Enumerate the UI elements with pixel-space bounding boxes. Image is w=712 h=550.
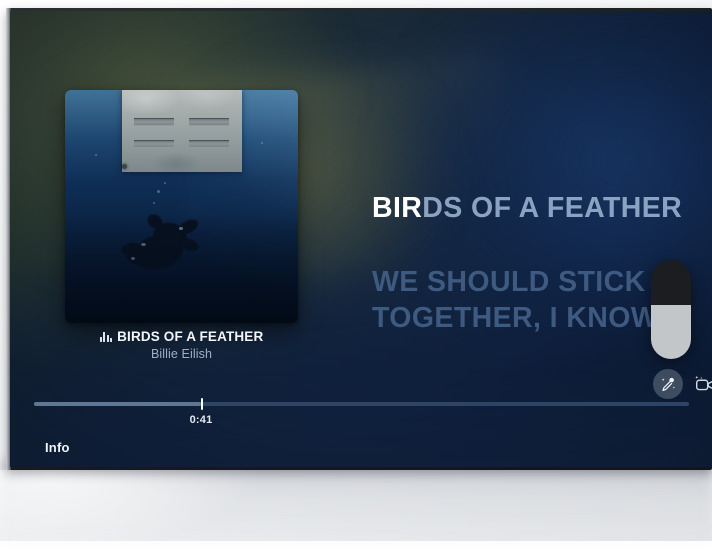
slab-texture [122,90,242,172]
music-player-screen: BIRDS OF A FEATHER Billie Eilish BIRDS O… [10,11,712,467]
slab-bolt [122,164,127,169]
device-shadow [0,460,712,550]
volume-slider[interactable] [651,260,691,359]
slab-slot [134,118,174,126]
playback-progress[interactable]: 0:41 [34,402,689,406]
slab-slot [189,140,229,148]
surface-highlight [0,470,260,550]
karaoke-sing-button[interactable] [653,369,683,399]
lyric-unsung-text: DS OF A FEATHER [422,192,682,224]
bubble [153,202,155,204]
bubble [164,182,166,184]
music-video-button[interactable] [692,371,712,397]
progress-elapsed [34,402,201,406]
progress-scrubber-handle[interactable] [201,398,203,410]
track-title: BIRDS OF A FEATHER [117,329,263,344]
scene: BIRDS OF A FEATHER Billie Eilish BIRDS O… [0,0,712,541]
video-camera-sparkle-icon [694,374,712,394]
playback-extras-row [653,369,712,399]
bubble [95,154,97,156]
bubble [157,190,160,193]
elapsed-time-label: 0:41 [190,414,213,426]
slab-slot [189,118,229,126]
equalizer-bars-icon [100,331,113,342]
album-artwork-image [65,90,298,323]
info-button[interactable]: Info [45,440,70,455]
artwork-bottom-fade [65,213,298,323]
progress-track[interactable] [34,402,689,406]
bubble [261,142,263,144]
slab-slot [134,140,174,148]
track-info: BIRDS OF A FEATHER Billie Eilish [65,329,298,361]
lyric-sung-text: BIR [372,192,422,224]
track-artist: Billie Eilish [65,347,298,361]
volume-slider-fill [651,305,691,359]
track-title-row: BIRDS OF A FEATHER [65,329,298,344]
lyric-line-current: BIRDS OF A FEATHER [372,193,702,225]
microphone-sparkle-icon [660,376,677,393]
concrete-slab [122,90,242,172]
album-artwork[interactable] [65,90,298,323]
